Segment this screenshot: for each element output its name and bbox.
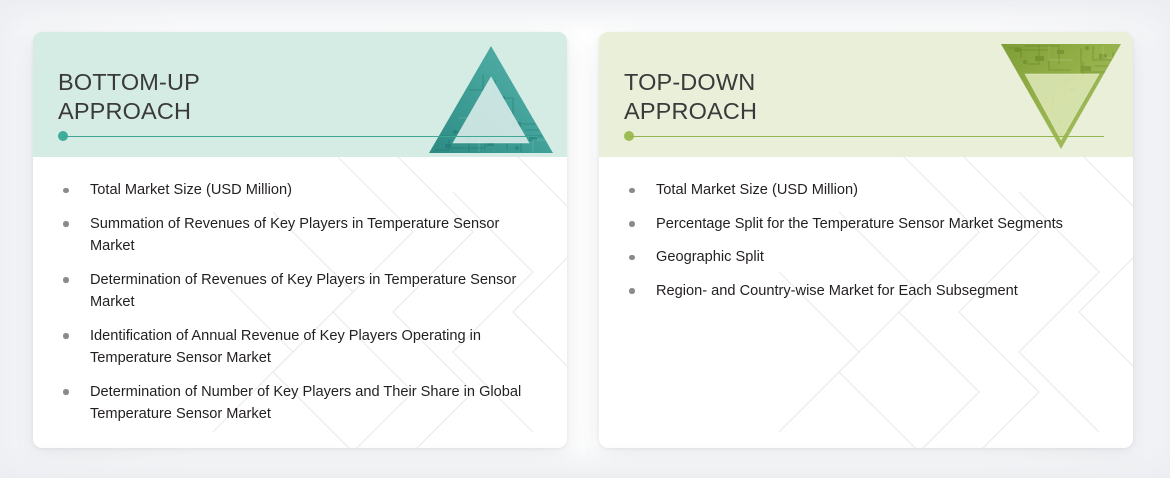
list-item: Summation of Revenues of Key Players in … (59, 213, 541, 258)
list-item: Percentage Split for the Temperature Sen… (625, 213, 1107, 236)
header-accent-rule (624, 131, 1104, 141)
accent-line (63, 136, 538, 137)
accent-line (629, 136, 1104, 137)
panel-top-down: TOP-DOWN APPROACH Total Market Size (USD… (599, 32, 1133, 448)
panel-header-top-down: TOP-DOWN APPROACH (599, 32, 1133, 157)
infographic-canvas: BOTTOM-UP APPROACH Total Market Size (US… (0, 0, 1170, 478)
list-item: Determination of Revenues of Key Players… (59, 269, 541, 314)
bullet-dot-icon (629, 188, 635, 194)
list-item: Total Market Size (USD Million) (625, 179, 1107, 202)
list-item-label: Total Market Size (USD Million) (90, 182, 292, 198)
bullet-list-bottom-up: Total Market Size (USD Million) Summatio… (59, 179, 541, 426)
list-item-label: Summation of Revenues of Key Players in … (90, 216, 499, 255)
bullet-dot-icon (63, 277, 69, 283)
panel-body-top-down: Total Market Size (USD Million) Percenta… (599, 157, 1133, 302)
bullet-dot-icon (629, 255, 635, 261)
bullet-dot-icon (63, 333, 69, 339)
list-item-label: Determination of Number of Key Players a… (90, 384, 521, 423)
list-item: Identification of Annual Revenue of Key … (59, 325, 541, 370)
list-item: Total Market Size (USD Million) (59, 179, 541, 202)
bullet-list-top-down: Total Market Size (USD Million) Percenta… (625, 179, 1107, 302)
list-item: Geographic Split (625, 246, 1107, 269)
bullet-dot-icon (63, 221, 69, 227)
bullet-dot-icon (63, 389, 69, 395)
bullet-dot-icon (63, 188, 69, 194)
list-item-label: Geographic Split (656, 249, 764, 265)
list-item-label: Identification of Annual Revenue of Key … (90, 328, 481, 367)
list-item-label: Region- and Country-wise Market for Each… (656, 283, 1018, 299)
panel-header-bottom-up: BOTTOM-UP APPROACH (33, 32, 567, 157)
panel-title-top-down: TOP-DOWN APPROACH (624, 68, 757, 126)
bullet-dot-icon (629, 221, 635, 227)
panel-bottom-up: BOTTOM-UP APPROACH Total Market Size (US… (33, 32, 567, 448)
header-accent-rule (58, 131, 538, 141)
list-item-label: Total Market Size (USD Million) (656, 182, 858, 198)
list-item: Determination of Number of Key Players a… (59, 381, 541, 426)
panel-title-bottom-up: BOTTOM-UP APPROACH (58, 68, 200, 126)
panel-body-bottom-up: Total Market Size (USD Million) Summatio… (33, 157, 567, 426)
list-item-label: Determination of Revenues of Key Players… (90, 272, 516, 311)
bullet-dot-icon (629, 288, 635, 294)
list-item-label: Percentage Split for the Temperature Sen… (656, 216, 1063, 232)
list-item: Region- and Country-wise Market for Each… (625, 280, 1107, 303)
